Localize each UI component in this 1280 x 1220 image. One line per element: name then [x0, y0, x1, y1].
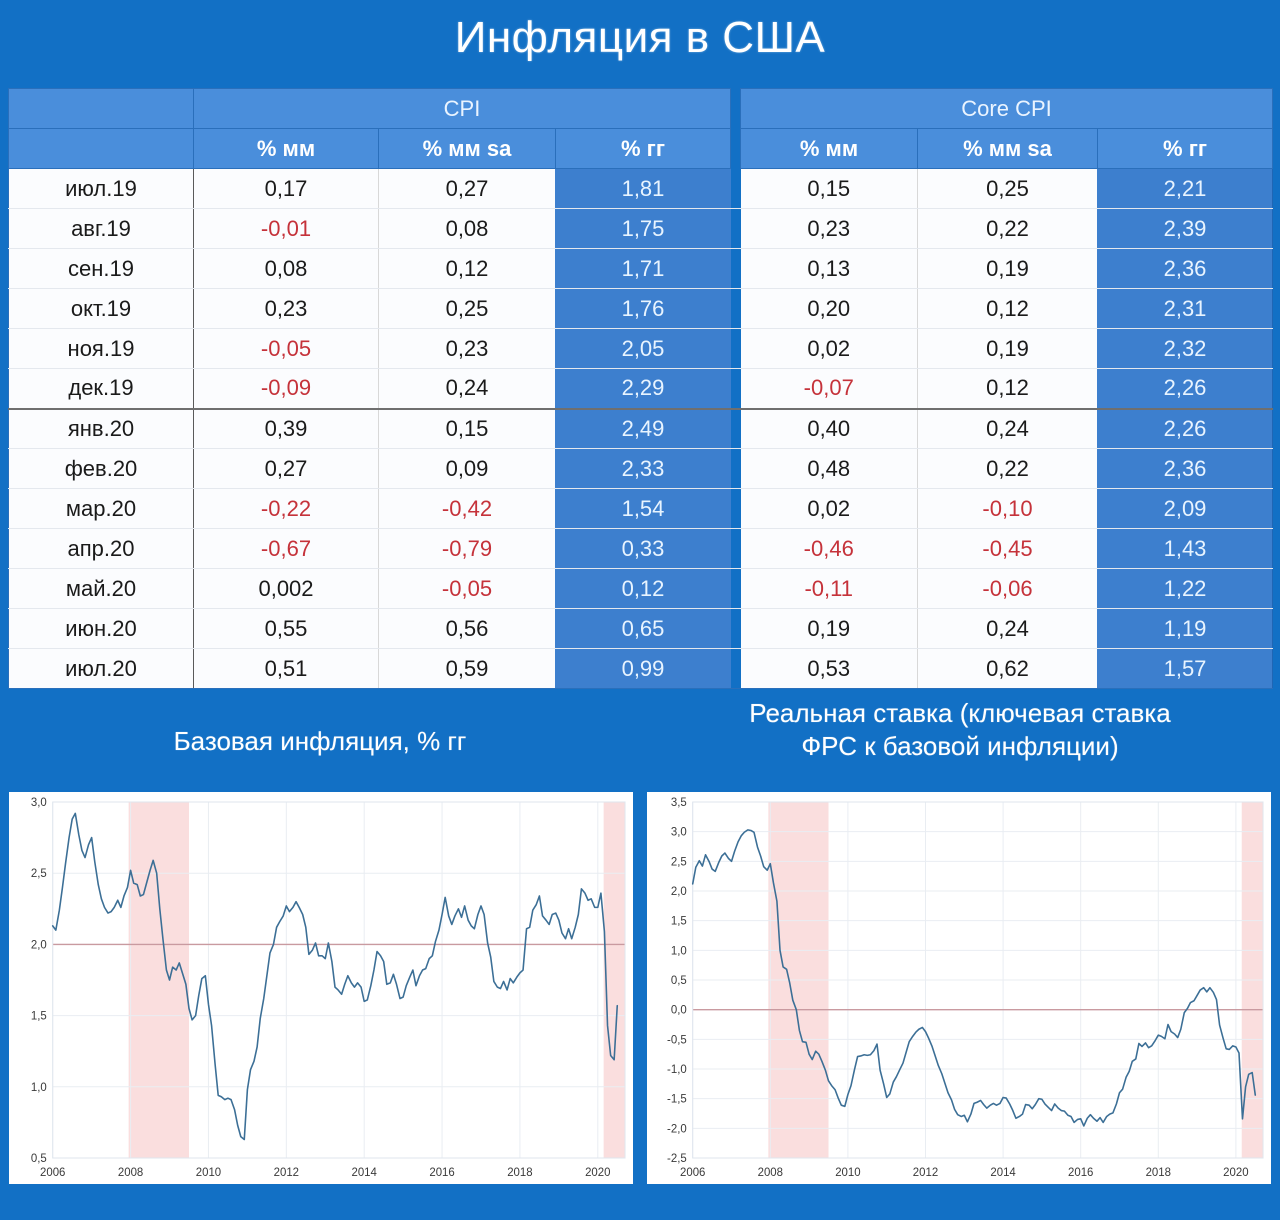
cell-cpi-yy: 1,81: [556, 169, 731, 209]
table-row: янв.200,390,152,490,400,242,26: [9, 409, 1273, 449]
cell-gap: [731, 569, 741, 609]
subheader-cpi-mm-sa: % мм sa: [379, 129, 556, 169]
table-body: июл.190,170,271,810,150,252,21авг.19-0,0…: [9, 169, 1273, 689]
cell-core-mm: -0,11: [741, 569, 918, 609]
cell-month: апр.20: [9, 529, 194, 569]
table-row: окт.190,230,251,760,200,122,31: [9, 289, 1273, 329]
y-tick-label: 2,5: [671, 856, 687, 868]
cell-core-mm: 0,13: [741, 249, 918, 289]
recession-band-1: [604, 802, 625, 1158]
cell-cpi-yy: 2,29: [556, 369, 731, 409]
x-tick-label: 2020: [585, 1167, 610, 1179]
cell-cpi-mm-sa: 0,09: [379, 449, 556, 489]
cell-core-yy: 2,39: [1098, 209, 1273, 249]
cell-cpi-mm-sa: 0,27: [379, 169, 556, 209]
cell-month: июн.20: [9, 609, 194, 649]
subheader-core-yy: % гг: [1098, 129, 1273, 169]
y-tick-label: 3,5: [671, 797, 687, 809]
cell-core-mm: 0,23: [741, 209, 918, 249]
charts-row: 3,02,52,01,51,00,52006200820102012201420…: [0, 789, 1280, 1187]
x-tick-label: 2010: [196, 1167, 221, 1179]
cell-cpi-yy: 1,54: [556, 489, 731, 529]
cell-month: янв.20: [9, 409, 194, 449]
cell-core-mm: 0,02: [741, 329, 918, 369]
cell-gap: [731, 489, 741, 529]
x-tick-label: 2010: [835, 1167, 860, 1179]
recession-band-0: [129, 802, 189, 1158]
cell-core-yy: 2,26: [1098, 409, 1273, 449]
cell-core-yy: 2,32: [1098, 329, 1273, 369]
x-tick-label: 2016: [1068, 1167, 1093, 1179]
cell-cpi-mm-sa: -0,05: [379, 569, 556, 609]
group-header-cpi: CPI: [194, 89, 731, 129]
subheader-core-mm-sa: % мм sa: [918, 129, 1098, 169]
cell-cpi-yy: 1,71: [556, 249, 731, 289]
cell-cpi-mm: 0,002: [194, 569, 379, 609]
cell-core-mm: 0,53: [741, 649, 918, 689]
cell-core-mm-sa: 0,24: [918, 409, 1098, 449]
cell-core-mm-sa: -0,06: [918, 569, 1098, 609]
y-tick-label: 1,0: [31, 1082, 47, 1094]
x-tick-label: 2018: [507, 1167, 532, 1179]
subheader-month: [9, 129, 194, 169]
y-tick-label: 3,0: [671, 827, 687, 839]
sub-header-row: % мм % мм sa % гг % мм % мм sa % гг: [9, 129, 1273, 169]
cell-month: май.20: [9, 569, 194, 609]
cell-cpi-mm-sa: 0,08: [379, 209, 556, 249]
cell-cpi-yy: 0,65: [556, 609, 731, 649]
y-tick-label: -1,0: [667, 1064, 687, 1076]
cell-cpi-yy: 0,99: [556, 649, 731, 689]
x-tick-label: 2012: [274, 1167, 299, 1179]
y-tick-label: -2,5: [667, 1153, 687, 1165]
cell-month: ноя.19: [9, 329, 194, 369]
cell-month: дек.19: [9, 369, 194, 409]
subheader-cpi-mm: % мм: [194, 129, 379, 169]
cell-cpi-mm: -0,01: [194, 209, 379, 249]
cell-core-mm-sa: 0,22: [918, 209, 1098, 249]
cell-cpi-mm-sa: -0,42: [379, 489, 556, 529]
cell-month: мар.20: [9, 489, 194, 529]
cell-cpi-mm: -0,09: [194, 369, 379, 409]
cell-core-mm-sa: 0,12: [918, 369, 1098, 409]
x-tick-label: 2012: [913, 1167, 938, 1179]
cell-core-yy: 2,09: [1098, 489, 1273, 529]
chart-titles: Базовая инфляция, % гг Реальная ставка (…: [0, 689, 1280, 789]
right-chart-title: Реальная ставка (ключевая ставка ФРС к б…: [640, 693, 1280, 789]
cell-cpi-yy: 0,12: [556, 569, 731, 609]
table-row: апр.20-0,67-0,790,33-0,46-0,451,43: [9, 529, 1273, 569]
y-tick-label: 0,5: [671, 975, 687, 987]
cell-cpi-mm-sa: 0,23: [379, 329, 556, 369]
cell-core-mm: 0,48: [741, 449, 918, 489]
cell-core-mm-sa: 0,19: [918, 329, 1098, 369]
y-tick-label: -1,5: [667, 1094, 687, 1106]
x-tick-label: 2018: [1146, 1167, 1171, 1179]
y-tick-label: 1,5: [671, 916, 687, 928]
y-tick-label: -0,5: [667, 1034, 687, 1046]
cell-cpi-mm: 0,51: [194, 649, 379, 689]
page-title: Инфляция в США: [0, 0, 1280, 88]
x-tick-label: 2008: [758, 1167, 783, 1179]
cell-gap: [731, 409, 741, 449]
table-row: июл.190,170,271,810,150,252,21: [9, 169, 1273, 209]
cell-core-mm-sa: 0,62: [918, 649, 1098, 689]
right-chart-title-line1: Реальная ставка (ключевая ставка: [656, 697, 1264, 730]
cell-core-yy: 1,43: [1098, 529, 1273, 569]
table-row: мар.20-0,22-0,421,540,02-0,102,09: [9, 489, 1273, 529]
cell-gap: [731, 609, 741, 649]
cell-gap: [731, 649, 741, 689]
table-head: CPI Core CPI % мм % мм sa % гг % мм % мм…: [9, 89, 1273, 169]
right-chart-title-line2: ФРС к базовой инфляции): [656, 730, 1264, 763]
cell-cpi-mm-sa: 0,24: [379, 369, 556, 409]
cell-core-mm-sa: 0,24: [918, 609, 1098, 649]
cell-core-mm: 0,15: [741, 169, 918, 209]
table-row: фев.200,270,092,330,480,222,36: [9, 449, 1273, 489]
cell-core-yy: 2,36: [1098, 249, 1273, 289]
group-header-core-cpi: Core CPI: [741, 89, 1273, 129]
cell-month: сен.19: [9, 249, 194, 289]
cell-cpi-mm-sa: 0,56: [379, 609, 556, 649]
cell-core-yy: 2,26: [1098, 369, 1273, 409]
cell-gap: [731, 529, 741, 569]
cell-cpi-mm-sa: 0,59: [379, 649, 556, 689]
cell-month: окт.19: [9, 289, 194, 329]
cell-cpi-yy: 2,05: [556, 329, 731, 369]
cell-core-mm-sa: 0,22: [918, 449, 1098, 489]
cell-gap: [731, 169, 741, 209]
table-row: дек.19-0,090,242,29-0,070,122,26: [9, 369, 1273, 409]
cell-cpi-mm: 0,23: [194, 289, 379, 329]
cell-gap: [731, 249, 741, 289]
cell-gap: [731, 369, 741, 409]
cell-cpi-mm: -0,05: [194, 329, 379, 369]
group-header-row: CPI Core CPI: [9, 89, 1273, 129]
cell-cpi-mm-sa: 0,25: [379, 289, 556, 329]
y-tick-label: 3,0: [31, 797, 47, 809]
group-header-gap: [731, 89, 741, 129]
real-rate-chart: 3,53,02,52,01,51,00,50,0-0,5-1,0-1,5-2,0…: [644, 789, 1274, 1187]
cell-cpi-yy: 0,33: [556, 529, 731, 569]
cell-gap: [731, 209, 741, 249]
cell-month: авг.19: [9, 209, 194, 249]
y-tick-label: 0,5: [31, 1153, 47, 1165]
cell-gap: [731, 329, 741, 369]
cell-gap: [731, 289, 741, 329]
inflation-table: CPI Core CPI % мм % мм sa % гг % мм % мм…: [8, 88, 1273, 689]
cell-month: фев.20: [9, 449, 194, 489]
cell-month: июл.20: [9, 649, 194, 689]
table-row: июл.200,510,590,990,530,621,57: [9, 649, 1273, 689]
subheader-cpi-yy: % гг: [556, 129, 731, 169]
cell-cpi-mm: 0,27: [194, 449, 379, 489]
cell-core-yy: 1,57: [1098, 649, 1273, 689]
y-tick-label: 2,0: [671, 886, 687, 898]
y-tick-label: 1,0: [671, 945, 687, 957]
y-tick-label: 0,0: [671, 1005, 687, 1017]
cell-core-yy: 2,36: [1098, 449, 1273, 489]
x-tick-label: 2006: [680, 1167, 705, 1179]
subheader-gap: [731, 129, 741, 169]
cell-core-mm: 0,19: [741, 609, 918, 649]
x-tick-label: 2006: [40, 1167, 65, 1179]
cell-cpi-yy: 1,75: [556, 209, 731, 249]
cell-core-yy: 1,22: [1098, 569, 1273, 609]
cell-cpi-mm: 0,08: [194, 249, 379, 289]
table-row: авг.19-0,010,081,750,230,222,39: [9, 209, 1273, 249]
cell-cpi-mm: 0,55: [194, 609, 379, 649]
cell-cpi-mm-sa: 0,15: [379, 409, 556, 449]
cell-month: июл.19: [9, 169, 194, 209]
cell-cpi-mm: -0,67: [194, 529, 379, 569]
y-tick-label: 2,0: [31, 939, 47, 951]
x-tick-label: 2014: [990, 1167, 1016, 1179]
cell-cpi-mm-sa: -0,79: [379, 529, 556, 569]
cell-core-mm-sa: -0,45: [918, 529, 1098, 569]
subheader-core-mm: % мм: [741, 129, 918, 169]
y-tick-label: 1,5: [31, 1011, 47, 1023]
cell-cpi-yy: 1,76: [556, 289, 731, 329]
left-chart-title: Базовая инфляция, % гг: [0, 693, 640, 789]
cell-core-mm: 0,02: [741, 489, 918, 529]
cell-cpi-yy: 2,33: [556, 449, 731, 489]
table-row: сен.190,080,121,710,130,192,36: [9, 249, 1273, 289]
cell-core-mm: 0,20: [741, 289, 918, 329]
x-tick-label: 2014: [351, 1167, 377, 1179]
y-tick-label: -2,0: [667, 1123, 687, 1135]
table-row: июн.200,550,560,650,190,241,19: [9, 609, 1273, 649]
cell-cpi-mm-sa: 0,12: [379, 249, 556, 289]
table-row: ноя.19-0,050,232,050,020,192,32: [9, 329, 1273, 369]
x-tick-label: 2016: [429, 1167, 454, 1179]
y-tick-label: 2,5: [31, 868, 47, 880]
cell-core-yy: 2,31: [1098, 289, 1273, 329]
cell-gap: [731, 449, 741, 489]
table-row: май.200,002-0,050,12-0,11-0,061,22: [9, 569, 1273, 609]
x-tick-label: 2008: [118, 1167, 143, 1179]
cell-core-mm-sa: -0,10: [918, 489, 1098, 529]
cell-core-yy: 1,19: [1098, 609, 1273, 649]
group-header-blank: [9, 89, 194, 129]
cell-core-mm: -0,46: [741, 529, 918, 569]
cell-cpi-yy: 2,49: [556, 409, 731, 449]
poster-root: Инфляция в США CPI Core CPI % мм % мм sa: [0, 0, 1280, 1220]
inflation-table-container: CPI Core CPI % мм % мм sa % гг % мм % мм…: [0, 88, 1280, 689]
cell-cpi-mm: -0,22: [194, 489, 379, 529]
cell-cpi-mm: 0,17: [194, 169, 379, 209]
cell-core-mm-sa: 0,12: [918, 289, 1098, 329]
cell-core-mm: -0,07: [741, 369, 918, 409]
cell-core-mm-sa: 0,25: [918, 169, 1098, 209]
cell-core-mm: 0,40: [741, 409, 918, 449]
cell-core-yy: 2,21: [1098, 169, 1273, 209]
cell-core-mm-sa: 0,19: [918, 249, 1098, 289]
x-tick-label: 2020: [1223, 1167, 1248, 1179]
cell-cpi-mm: 0,39: [194, 409, 379, 449]
core-inflation-chart: 3,02,52,01,51,00,52006200820102012201420…: [6, 789, 636, 1187]
